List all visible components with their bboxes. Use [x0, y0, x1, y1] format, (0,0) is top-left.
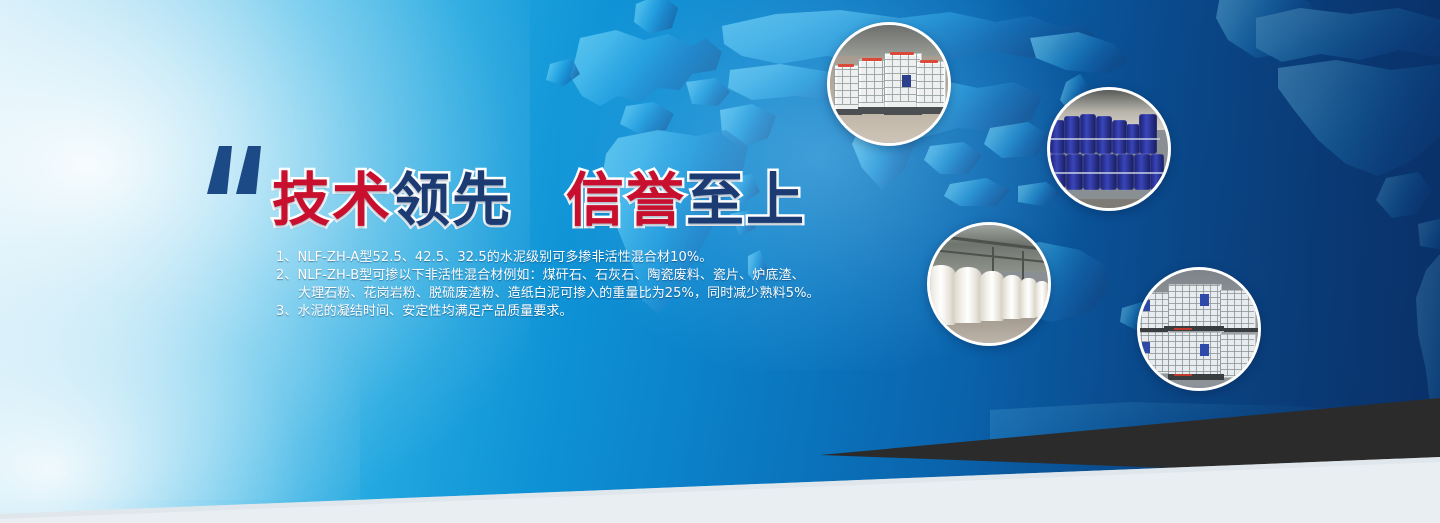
photo-3-tank-b [954, 267, 982, 323]
photo-4-cage-front-top [1168, 284, 1220, 328]
photo-3-tank-f [1035, 281, 1049, 317]
photo-1-scene [830, 25, 948, 143]
photo-4-label-b [1142, 342, 1150, 353]
photo-2-drum-r1d [1096, 116, 1112, 154]
photo-4-scene [1140, 270, 1258, 388]
photo-2-drum-r2a [1050, 154, 1066, 188]
photo-4-cage-back-top [1137, 292, 1168, 330]
photo-4-cage-right-bot [1220, 334, 1254, 376]
photo-4-frame-bar-right [1224, 328, 1258, 332]
photo-2-chain-2 [1050, 172, 1164, 174]
photo-4-valve-b [1174, 374, 1192, 376]
photo-4-label-c [1200, 294, 1209, 306]
photo-white-ibc-totes-outdoor[interactable] [827, 22, 951, 146]
photo-2-drum-r1e [1112, 120, 1127, 154]
photo-2-floor [1050, 199, 1168, 208]
photo-stacked-ibc-totes[interactable] [1137, 267, 1261, 391]
headline-part2-red: 信誉 [566, 169, 686, 231]
photo-2-drum-r1a [1050, 120, 1065, 154]
left-double-quotation-mark-icon [205, 142, 265, 198]
body-copy-line-4: 3、水泥的凝结时间、安定性均满足产品质量要求。 [276, 303, 876, 321]
page-title: 技术领先信誉至上 [272, 169, 806, 231]
photo-3-tank-d [1002, 275, 1022, 319]
photo-1-pallet-d [918, 107, 946, 114]
photo-4-valve-a [1174, 328, 1192, 330]
photo-1-cap-b [862, 58, 882, 61]
photo-4-frame-bar-mid [1164, 326, 1224, 331]
photo-2-chain-1 [1050, 138, 1160, 140]
body-copy: 1、NLF-ZH-A型52.5、42.5、32.5的水泥级别可多掺非活性混合材1… [276, 249, 876, 321]
photo-white-storage-tanks[interactable] [927, 222, 1051, 346]
photo-2-drum-r1b [1064, 116, 1080, 154]
photo-1-label [902, 75, 911, 87]
photo-1-cap-a [838, 64, 854, 67]
headline-part1-navy: 领先 [392, 169, 512, 231]
photo-4-cage-right-top [1220, 290, 1254, 330]
body-copy-line-1: 1、NLF-ZH-A型52.5、42.5、32.5的水泥级别可多掺非活性混合材1… [276, 249, 876, 267]
photo-2-drum-r1c [1080, 114, 1096, 154]
photo-3-tank-a [927, 265, 956, 325]
headline-part1-red: 技术 [272, 169, 392, 231]
promo-banner: 技术领先信誉至上 1、NLF-ZH-A型52.5、42.5、32.5的水泥级别可… [0, 0, 1440, 523]
photo-1-roof [830, 25, 948, 56]
headline-part2-navy: 至上 [686, 169, 806, 231]
photo-2-drum-r1g [1139, 114, 1157, 154]
photo-4-cage-front-bot [1168, 332, 1220, 378]
photo-3-tank-c [980, 271, 1004, 321]
photo-1-cage-a [834, 65, 860, 105]
photo-4-label-d [1200, 344, 1209, 356]
photo-1-cap-d [920, 60, 938, 63]
photo-4-frame-bar-left [1137, 328, 1168, 332]
photo-1-cap-c [890, 52, 914, 55]
photo-1-pallet-c [884, 107, 922, 115]
photo-4-label-a [1142, 300, 1150, 311]
body-copy-line-2: 2、NLF-ZH-B型可掺以下非活性混合材例如：煤矸石、石灰石、陶瓷废料、瓷片、… [276, 267, 876, 285]
photo-2-scene [1050, 90, 1168, 208]
photo-blue-steel-drums[interactable] [1047, 87, 1171, 211]
photo-1-cage-d [916, 61, 944, 103]
photo-3-scene [930, 225, 1048, 343]
body-copy-line-3: 大理石粉、花岗岩粉、脱硫废渣粉、造纸白泥可掺入的重量比为25%，同时减少熟料5%… [276, 285, 876, 303]
